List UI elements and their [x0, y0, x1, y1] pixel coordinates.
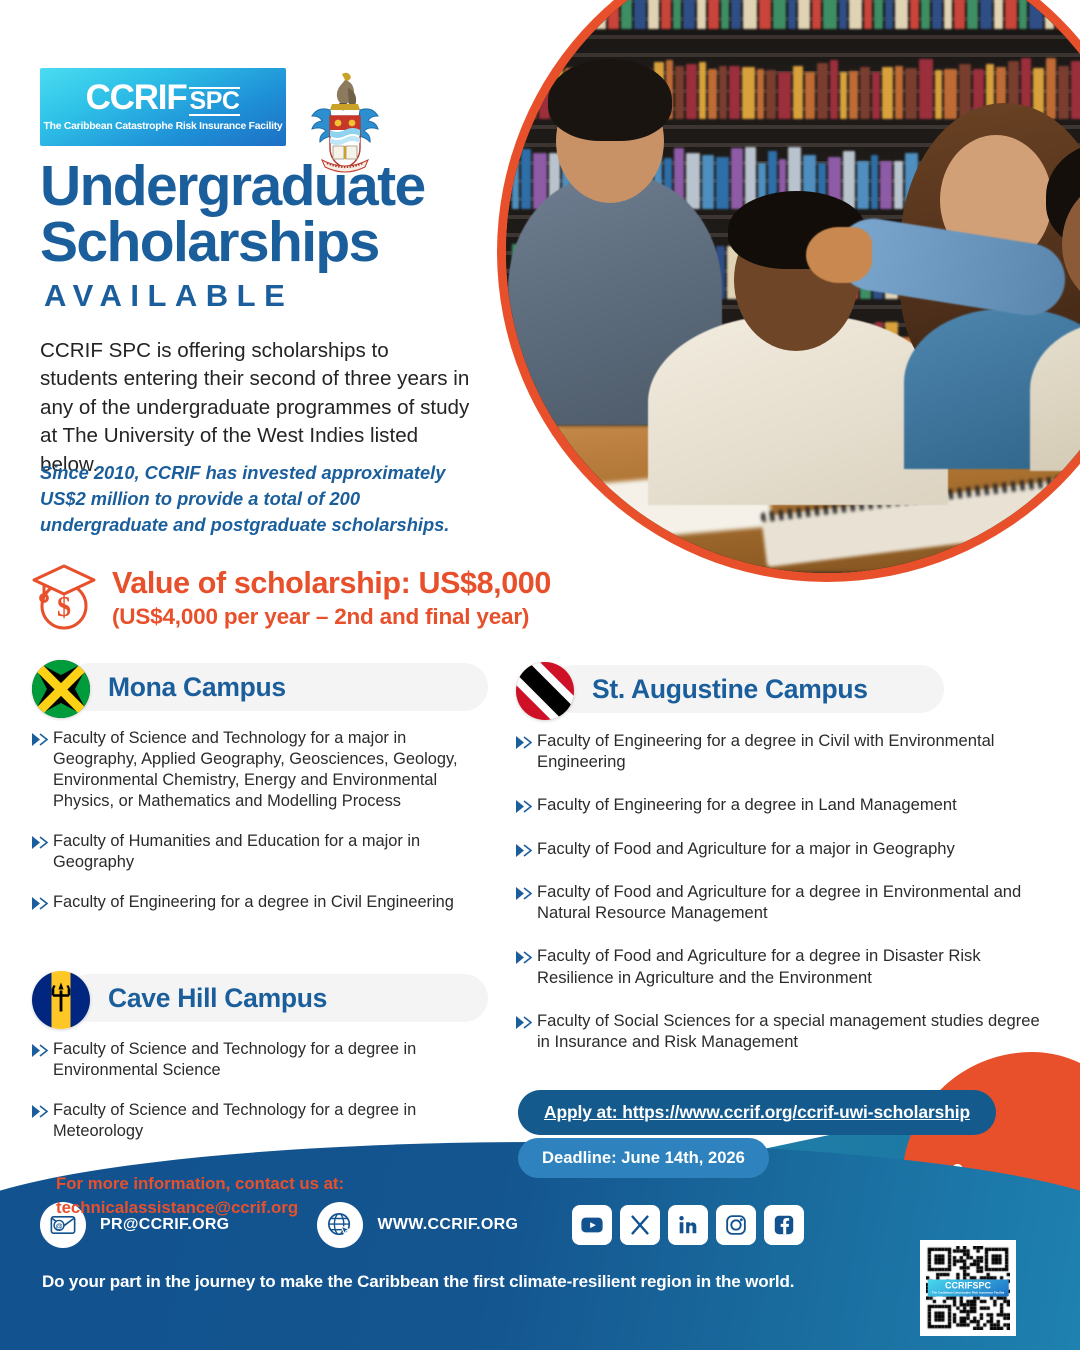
- trident-symbol: [50, 982, 72, 1019]
- investment-highlight: Since 2010, CCRIF has invested approxima…: [40, 460, 478, 538]
- programme-text: Faculty of Food and Agriculture for a de…: [537, 946, 981, 986]
- linkedin-icon[interactable]: [668, 1205, 708, 1245]
- scholarship-value-block: $ Value of scholarship: US$8,000 (US$4,0…: [30, 560, 551, 634]
- programme-list-cave-hill: Faculty of Science and Technology for a …: [32, 1039, 488, 1142]
- list-item: Faculty of Science and Technology for a …: [32, 728, 488, 812]
- hero-photo-circle: [497, 0, 1080, 582]
- footer-website-label: WWW.CCRIF.ORG: [377, 1216, 518, 1234]
- headline-line-1: Undergraduate: [40, 154, 425, 218]
- available-label: AVAILABLE: [44, 278, 293, 314]
- programme-text: Faculty of Food and Agriculture for a de…: [537, 882, 1021, 922]
- qr-logo-word: CCRIF: [945, 1281, 973, 1291]
- list-item: Faculty of Science and Technology for a …: [32, 1039, 488, 1081]
- barbados-flag-icon: [32, 971, 90, 1029]
- deadline-badge: Deadline: June 14th, 2026: [518, 1138, 769, 1178]
- ccrif-spc-logo: CCRIF SPC The Caribbean Catastrophe Risk…: [40, 68, 286, 146]
- campus-title: Mona Campus: [108, 660, 286, 714]
- chevron-bullet-icon: [516, 733, 532, 746]
- list-item: Faculty of Humanities and Education for …: [32, 831, 488, 873]
- intro-paragraph: CCRIF SPC is offering scholarships to st…: [40, 337, 472, 479]
- contact-note-line-1: For more information, contact us at:: [56, 1172, 344, 1196]
- chevron-bullet-icon: [32, 1042, 48, 1055]
- chevron-bullet-icon: [32, 731, 48, 744]
- hero-photo: [506, 0, 1080, 573]
- page-title: Undergraduate Scholarships: [40, 158, 425, 271]
- campus-header-mona: Mona Campus: [32, 660, 488, 714]
- chevron-bullet-icon: [32, 895, 48, 908]
- campus-header-cave-hill: Cave Hill Campus: [32, 971, 488, 1025]
- svg-text:$: $: [57, 592, 71, 623]
- chevron-bullet-icon: [32, 834, 48, 847]
- programme-text: Faculty of Science and Technology for a …: [53, 1040, 416, 1079]
- social-links: [572, 1205, 804, 1245]
- graduation-cap-dollar-icon: $: [30, 560, 98, 634]
- list-item: Faculty of Social Sciences for a special…: [516, 1010, 1056, 1052]
- campus-header-st-augustine: St. Augustine Campus: [516, 662, 1056, 716]
- facebook-icon[interactable]: [764, 1205, 804, 1245]
- list-item: Faculty of Science and Technology for a …: [32, 1100, 488, 1142]
- chevron-bullet-icon: [516, 884, 532, 897]
- campus-title: St. Augustine Campus: [592, 662, 868, 716]
- programme-list-st-augustine: Faculty of Engineering for a degree in C…: [516, 730, 1056, 1052]
- chevron-bullet-icon: [516, 1013, 532, 1026]
- programme-text: Faculty of Engineering for a degree in L…: [537, 795, 957, 814]
- list-item: Faculty of Engineering for a degree in C…: [32, 892, 488, 913]
- qr-logo-tagline: The Caribbean Catastrophe Risk Insurance…: [932, 1292, 1005, 1295]
- programme-list-mona: Faculty of Science and Technology for a …: [32, 728, 488, 913]
- right-campus-column: St. Augustine Campus Faculty of Engineer…: [516, 662, 1056, 1074]
- youtube-icon[interactable]: [572, 1205, 612, 1245]
- x-twitter-icon[interactable]: [620, 1205, 660, 1245]
- list-item: Faculty of Engineering for a degree in C…: [516, 730, 1056, 772]
- list-item: Faculty of Food and Agriculture for a de…: [516, 881, 1056, 923]
- instagram-icon[interactable]: [716, 1205, 756, 1245]
- ccrif-wordmark: CCRIF: [86, 82, 187, 115]
- programme-text: Faculty of Science and Technology for a …: [53, 1101, 416, 1140]
- list-item: Faculty of Engineering for a degree in L…: [516, 794, 1056, 815]
- hair: [548, 59, 672, 141]
- scholarship-value-breakdown: (US$4,000 per year – 2nd and final year): [112, 604, 551, 630]
- scholarship-flyer: CCRIF SPC The Caribbean Catastrophe Risk…: [0, 0, 1080, 1350]
- programme-text: Faculty of Social Sciences for a special…: [537, 1011, 1040, 1051]
- qr-logo-overlay: CCRIFSPC The Caribbean Catastrophe Risk …: [928, 1280, 1009, 1297]
- qr-code[interactable]: CCRIFSPC The Caribbean Catastrophe Risk …: [920, 1240, 1016, 1336]
- campus-title: Cave Hill Campus: [108, 971, 327, 1025]
- list-item: Faculty of Food and Agriculture for a ma…: [516, 838, 1056, 859]
- ccrif-tagline: The Caribbean Catastrophe Risk Insurance…: [44, 121, 283, 132]
- programme-text: Faculty of Engineering for a degree in C…: [537, 731, 994, 771]
- qr-logo-spc: SPC: [972, 1281, 991, 1291]
- apply-link-button[interactable]: Apply at: https://www.ccrif.org/ccrif-uw…: [518, 1090, 996, 1135]
- footer-website-item[interactable]: WWW.CCRIF.ORG: [317, 1202, 518, 1248]
- trinidad-and-tobago-flag-icon: [516, 662, 574, 720]
- pointing-hand: [806, 227, 872, 283]
- programme-text: Faculty of Science and Technology for a …: [53, 729, 458, 810]
- programme-text: Faculty of Humanities and Education for …: [53, 832, 420, 871]
- footer-tagline: Do your part in the journey to make the …: [42, 1272, 794, 1292]
- contact-email-link[interactable]: technicalassistance@ccrif.org: [56, 1196, 344, 1220]
- left-campus-column: Mona Campus Faculty of Science and Techn…: [32, 660, 488, 1161]
- scholarship-value-amount: Value of scholarship: US$8,000: [112, 566, 551, 600]
- programme-text: Faculty of Engineering for a degree in C…: [53, 893, 454, 911]
- chevron-bullet-icon: [516, 948, 532, 961]
- contact-note: For more information, contact us at: tec…: [56, 1172, 344, 1220]
- jamaica-flag-icon: [32, 660, 90, 718]
- chevron-bullet-icon: [516, 797, 532, 810]
- programme-text: Faculty of Food and Agriculture for a ma…: [537, 839, 955, 858]
- chevron-bullet-icon: [516, 841, 532, 854]
- svg-text:@: @: [55, 1221, 62, 1230]
- list-item: Faculty of Food and Agriculture for a de…: [516, 945, 1056, 987]
- chevron-bullet-icon: [32, 1103, 48, 1116]
- spc-wordmark: SPC: [189, 87, 241, 116]
- headline-line-2: Scholarships: [40, 214, 425, 270]
